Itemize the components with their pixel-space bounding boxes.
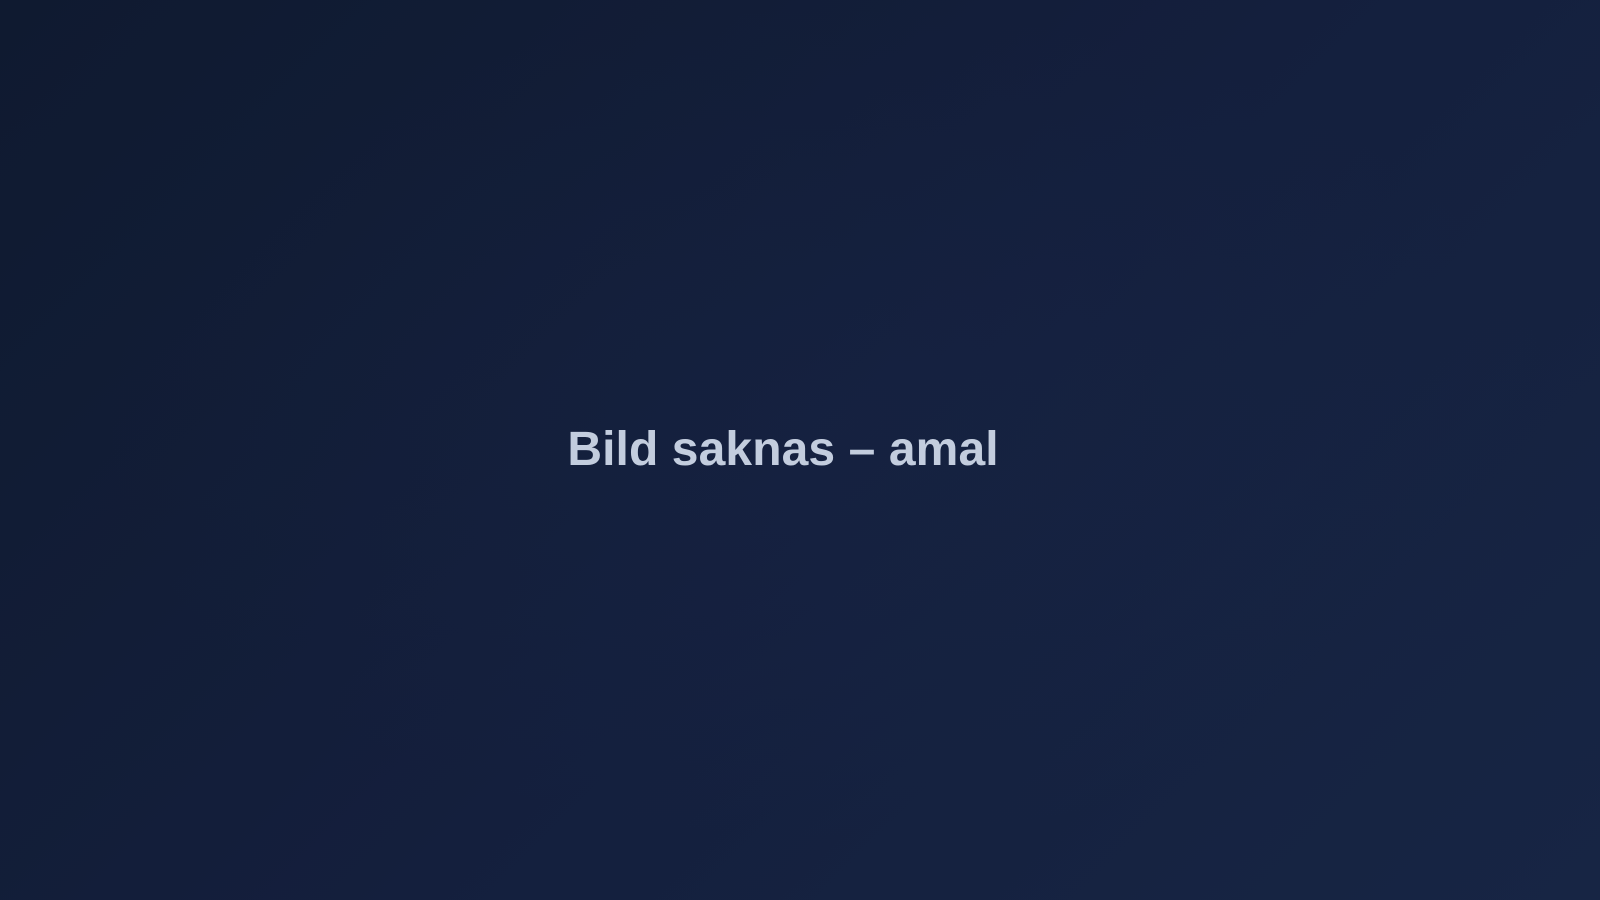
image-missing-placeholder-screen: Bild saknas – amal <box>0 0 1600 900</box>
placeholder-message: Bild saknas – amal <box>567 426 998 474</box>
